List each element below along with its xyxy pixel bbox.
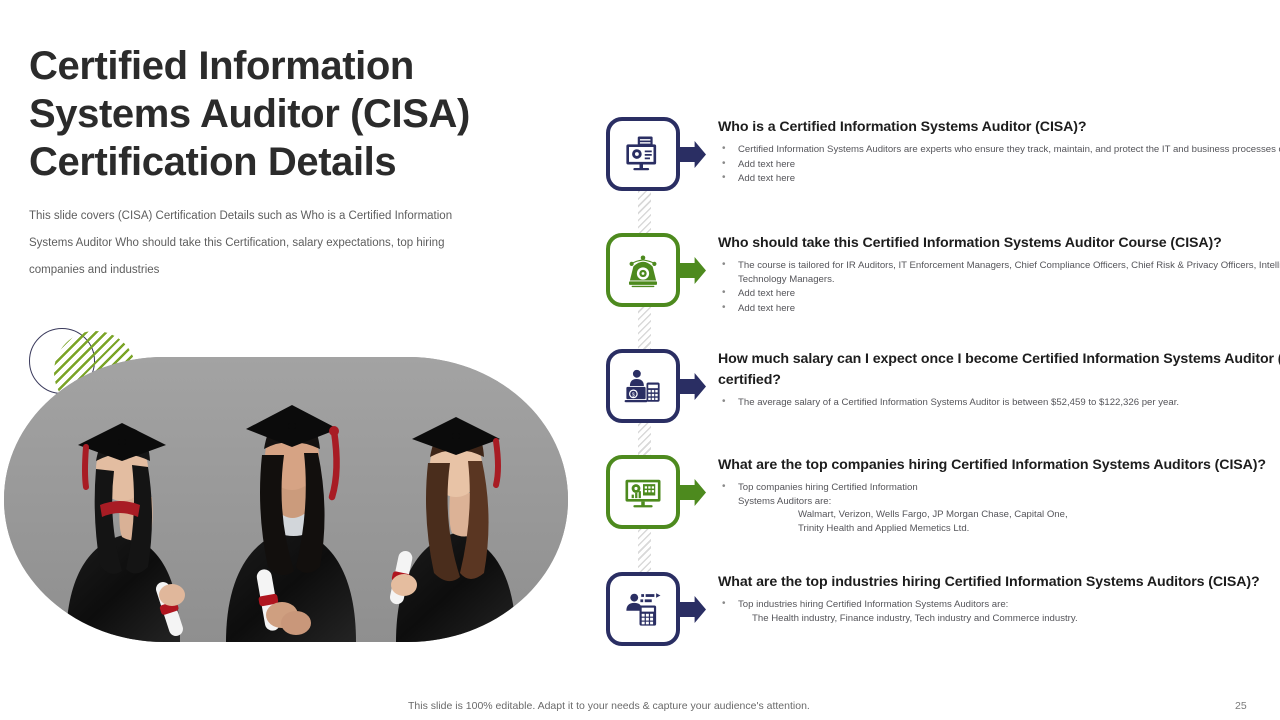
page-title: Certified Information Systems Auditor (C… [29,42,569,186]
slide-root: Certified Information Systems Auditor (C… [0,0,1280,720]
icon-group-top-industries[interactable] [606,572,710,648]
block-bullets: Top industries hiring Certified Informat… [718,598,1280,625]
icon-group-salary[interactable]: $ [606,349,710,425]
list-item: Add text here [718,172,1280,186]
arrow-marker [676,596,706,623]
footer-note: This slide is 100% editable. Adapt it to… [408,700,810,712]
block-bullets: Top companies hiring Certified Informati… [718,481,1280,535]
icon-group-who-is[interactable] [606,117,710,193]
list-item: Top industries hiring Certified Informat… [718,598,1280,625]
icon-frame: $ [606,349,680,423]
list-item: Top companies hiring Certified Informati… [718,481,1280,535]
block-heading: Who is a Certified Information Systems A… [718,117,1280,138]
icon-frame [606,455,680,529]
block-text: What are the top companies hiring Certif… [718,455,1280,536]
block-bullets: The average salary of a Certified Inform… [718,396,1280,410]
icon-group-who-should-take[interactable] [606,233,710,309]
arrow-marker [676,373,706,400]
block-bullets: The course is tailored for IR Auditors, … [718,259,1280,315]
block-heading: What are the top companies hiring Certif… [718,455,1280,476]
icon-frame [606,233,680,307]
block-text: How much salary can I expect once I beco… [718,349,1280,411]
list-item: Add text here [718,158,1280,172]
list-item: The course is tailored for IR Auditors, … [718,259,1280,286]
icon-group-top-companies[interactable] [606,455,710,531]
block-heading: What are the top industries hiring Certi… [718,572,1280,593]
list-item: The average salary of a Certified Inform… [718,396,1280,410]
svg-text:$: $ [632,393,635,399]
block-heading: How much salary can I expect once I beco… [718,349,1280,391]
graduates-photo [4,357,568,642]
arrow-marker [676,141,706,168]
page-number: 25 [1235,700,1247,712]
monitor-chart-gear-icon [622,471,664,513]
list-item: Certified Information Systems Auditors a… [718,143,1280,157]
arrow-marker [676,257,706,284]
block-text: What are the top industries hiring Certi… [718,572,1280,626]
list-item: Add text here [718,302,1280,316]
analyst-calculator-icon [622,588,664,630]
block-text: Who is a Certified Information Systems A… [718,117,1280,187]
list-item: Add text here [718,287,1280,301]
icon-frame [606,572,680,646]
slide-subtitle: This slide covers (CISA) Certification D… [29,203,489,284]
person-desk-calculator-icon: $ [622,365,664,407]
podium-target-icon [622,249,664,291]
computer-document-gear-icon [622,133,664,175]
arrow-marker [676,479,706,506]
icon-frame [606,117,680,191]
block-heading: Who should take this Certified Informati… [718,233,1280,254]
block-bullets: Certified Information Systems Auditors a… [718,143,1280,186]
block-text: Who should take this Certified Informati… [718,233,1280,316]
